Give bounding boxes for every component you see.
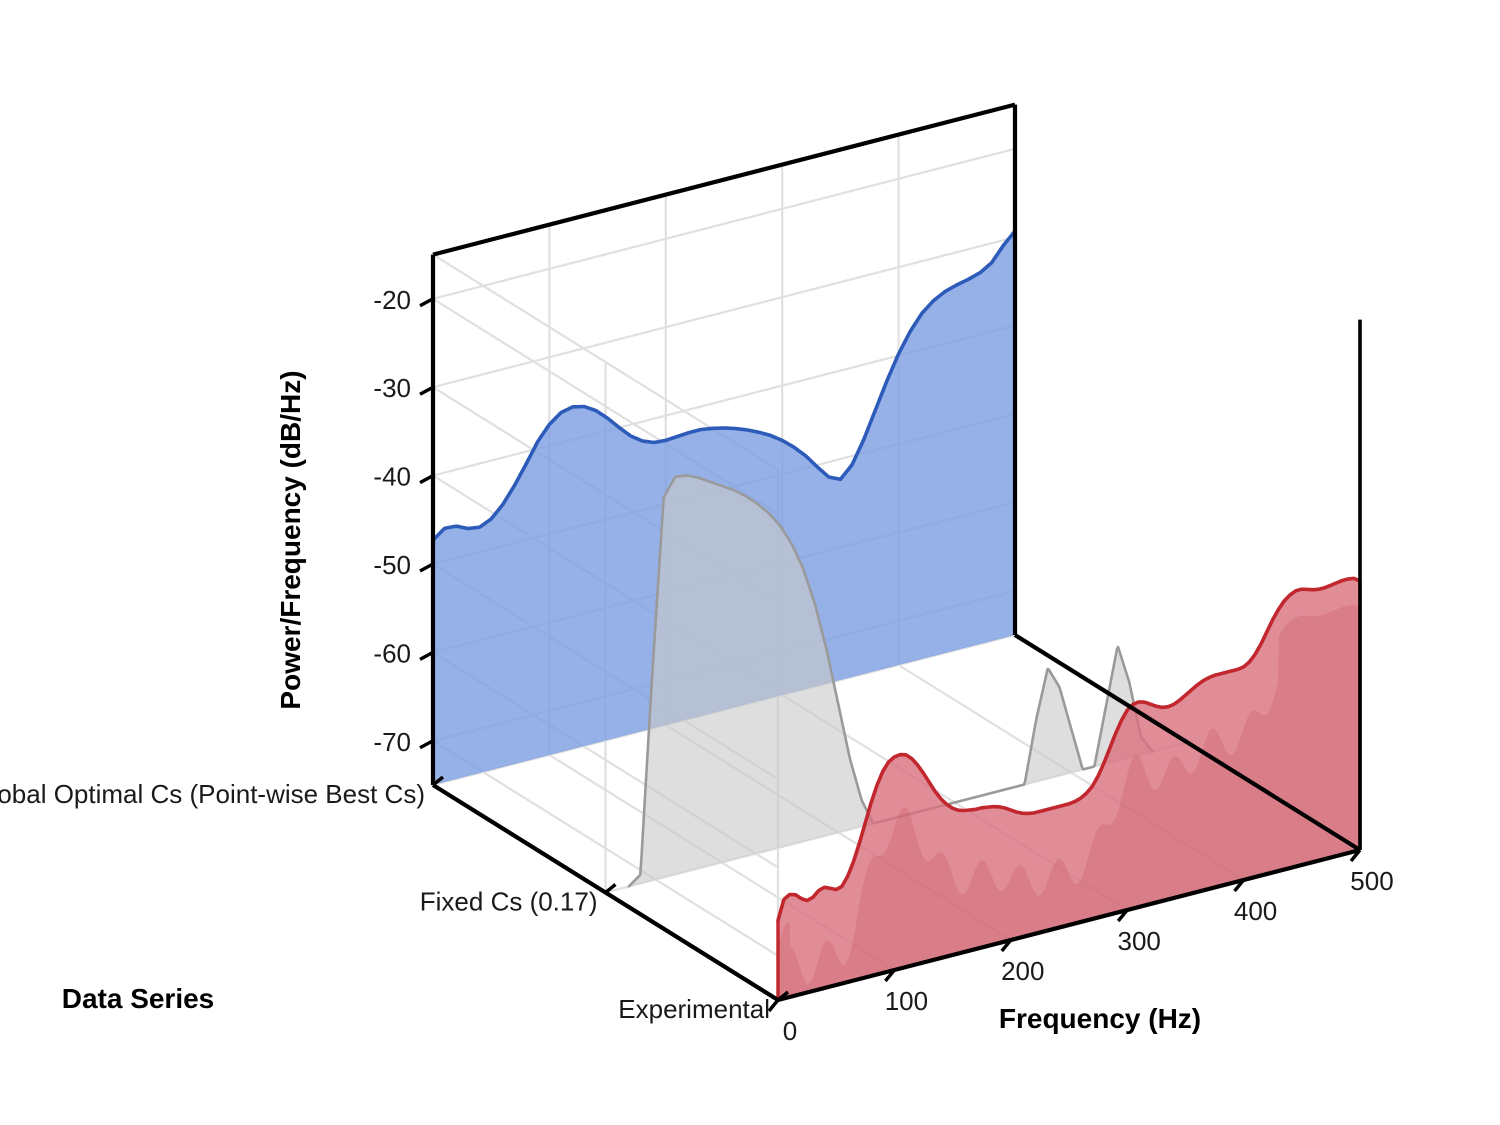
axis-title-layer: Power/Frequency (dB/Hz) Frequency (Hz) D… (0, 0, 1500, 1125)
z-axis-title: Power/Frequency (dB/Hz) (275, 370, 306, 709)
chart-canvas: -20-30-40-50-60-700100200300400500Experi… (0, 0, 1500, 1125)
y-axis-title: Data Series (62, 983, 215, 1014)
x-axis-title: Frequency (Hz) (999, 1003, 1201, 1034)
